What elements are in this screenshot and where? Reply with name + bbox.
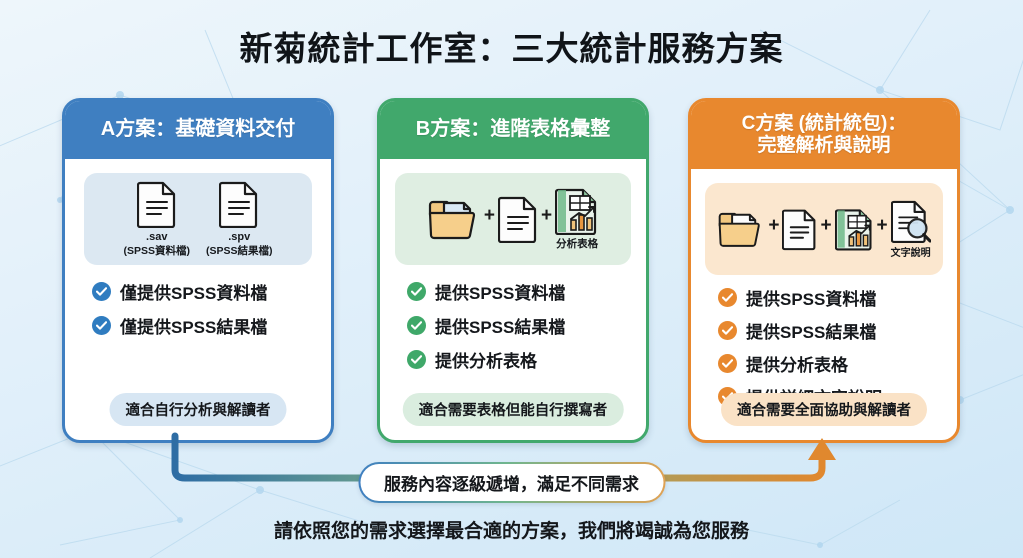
list-item: 提供分析表格 <box>718 351 944 376</box>
check-icon <box>407 350 426 369</box>
document-icon <box>498 195 538 243</box>
list-item: 僅提供SPSS資料檔 <box>92 279 318 304</box>
page-title: 新菊統計工作室：三大統計服務方案 <box>0 22 1023 70</box>
plan-b-icon-chart: 分析表格 <box>555 187 599 251</box>
plan-c-icon-explain: 文字說明 <box>891 199 931 259</box>
check-icon <box>718 354 737 373</box>
check-icon <box>92 316 111 335</box>
plan-b-header-line1: B方案：進階表格彙整 <box>416 118 610 142</box>
footer-note: 請依照您的需求選擇最合適的方案，我們將竭誠為您服務 <box>0 516 1023 543</box>
plan-c-header-line2: 完整解析與說明 <box>742 135 907 157</box>
plan-c-icon-explain-caption: 文字說明 <box>891 244 931 259</box>
plan-b-icon-panel: + + <box>395 173 631 265</box>
document-icon <box>137 180 177 228</box>
plus-sign: + <box>484 205 495 233</box>
plus-sign: + <box>820 215 831 243</box>
list-item: 提供SPSS結果檔 <box>407 313 633 338</box>
plan-a-icon-panel: .sav (SPSS資料檔) .spv (SPSS結果檔) <box>84 173 312 265</box>
plan-c-icon-document <box>782 207 817 252</box>
plan-c-header-text: C方案 (統計統包)： 完整解析與說明 <box>742 113 907 158</box>
plus-sign: + <box>541 205 552 233</box>
check-icon <box>718 321 737 340</box>
plan-c-header-line1: C方案 (統計統包)： <box>742 113 907 135</box>
feature-label: 僅提供SPSS結果檔 <box>120 313 267 338</box>
plus-sign: + <box>768 215 779 243</box>
plan-a-file-sav-sublabel: (SPSS資料檔) <box>123 243 190 258</box>
plan-a-file-sav: .sav (SPSS資料檔) <box>123 180 190 258</box>
plan-a-summary-badge: 適合自行分析與解讀者 <box>110 393 287 426</box>
chart-report-icon <box>555 187 599 235</box>
folder-icon <box>717 207 765 251</box>
feature-label: 提供分析表格 <box>746 351 848 376</box>
feature-label: 僅提供SPSS資料檔 <box>120 279 267 304</box>
document-magnifier-icon <box>891 199 931 243</box>
plan-b-icon-folder <box>427 195 481 244</box>
plan-c-feature-list: 提供SPSS資料檔 提供SPSS結果檔 提供分析表格 提供詳細文字說明 <box>718 285 944 409</box>
document-icon <box>782 207 817 251</box>
feature-label: 提供分析表格 <box>435 347 537 372</box>
plan-a-feature-list: 僅提供SPSS資料檔 僅提供SPSS結果檔 <box>92 279 318 338</box>
list-item: 僅提供SPSS結果檔 <box>92 313 318 338</box>
list-item: 提供SPSS資料檔 <box>718 285 944 310</box>
progression-callout: 服務內容逐級遞增，滿足不同需求 <box>358 462 665 503</box>
folder-icon <box>427 195 481 243</box>
plan-c-body: + + <box>691 169 957 409</box>
chart-report-icon <box>835 207 874 251</box>
feature-label: 提供SPSS資料檔 <box>746 285 876 310</box>
check-icon <box>407 316 426 335</box>
plan-a-header: A方案：基礎資料交付 <box>65 101 331 159</box>
plan-c-icon-folder <box>717 207 765 252</box>
document-icon <box>219 180 259 228</box>
check-icon <box>407 282 426 301</box>
plan-a-file-spv-label: .spv <box>228 231 250 243</box>
plan-a-header-line1: A方案：基礎資料交付 <box>101 118 295 142</box>
plus-sign: + <box>877 215 888 243</box>
list-item: 提供分析表格 <box>407 347 633 372</box>
plan-card-a[interactable]: A方案：基礎資料交付 .sav (SPSS資料檔) <box>62 98 334 443</box>
plan-b-icon-document <box>498 195 538 244</box>
plan-b-summary-badge: 適合需要表格但能自行撰寫者 <box>403 393 624 426</box>
plan-card-c[interactable]: C方案 (統計統包)： 完整解析與說明 + <box>688 98 960 443</box>
feature-label: 提供SPSS資料檔 <box>435 279 565 304</box>
plan-c-summary-badge: 適合需要全面協助與解讀者 <box>721 393 927 426</box>
plan-card-b[interactable]: B方案：進階表格彙整 + <box>377 98 649 443</box>
check-icon <box>718 288 737 307</box>
plan-c-icon-chart <box>835 207 874 252</box>
feature-label: 提供SPSS結果檔 <box>435 313 565 338</box>
plan-b-header: B方案：進階表格彙整 <box>380 101 646 159</box>
plan-a-file-sav-label: .sav <box>146 231 167 243</box>
plan-c-icon-panel: + + <box>705 183 943 275</box>
plan-b-body: + + <box>380 159 646 372</box>
list-item: 提供SPSS資料檔 <box>407 279 633 304</box>
plan-c-header: C方案 (統計統包)： 完整解析與說明 <box>691 101 957 169</box>
plan-a-file-spv: .spv (SPSS結果檔) <box>206 180 273 258</box>
plan-b-feature-list: 提供SPSS資料檔 提供SPSS結果檔 提供分析表格 <box>407 279 633 372</box>
plan-a-file-spv-sublabel: (SPSS結果檔) <box>206 243 273 258</box>
list-item: 提供SPSS結果檔 <box>718 318 944 343</box>
plan-a-body: .sav (SPSS資料檔) .spv (SPSS結果檔) <box>65 159 331 338</box>
check-icon <box>92 282 111 301</box>
plan-b-icon-chart-caption: 分析表格 <box>556 236 598 251</box>
feature-label: 提供SPSS結果檔 <box>746 318 876 343</box>
